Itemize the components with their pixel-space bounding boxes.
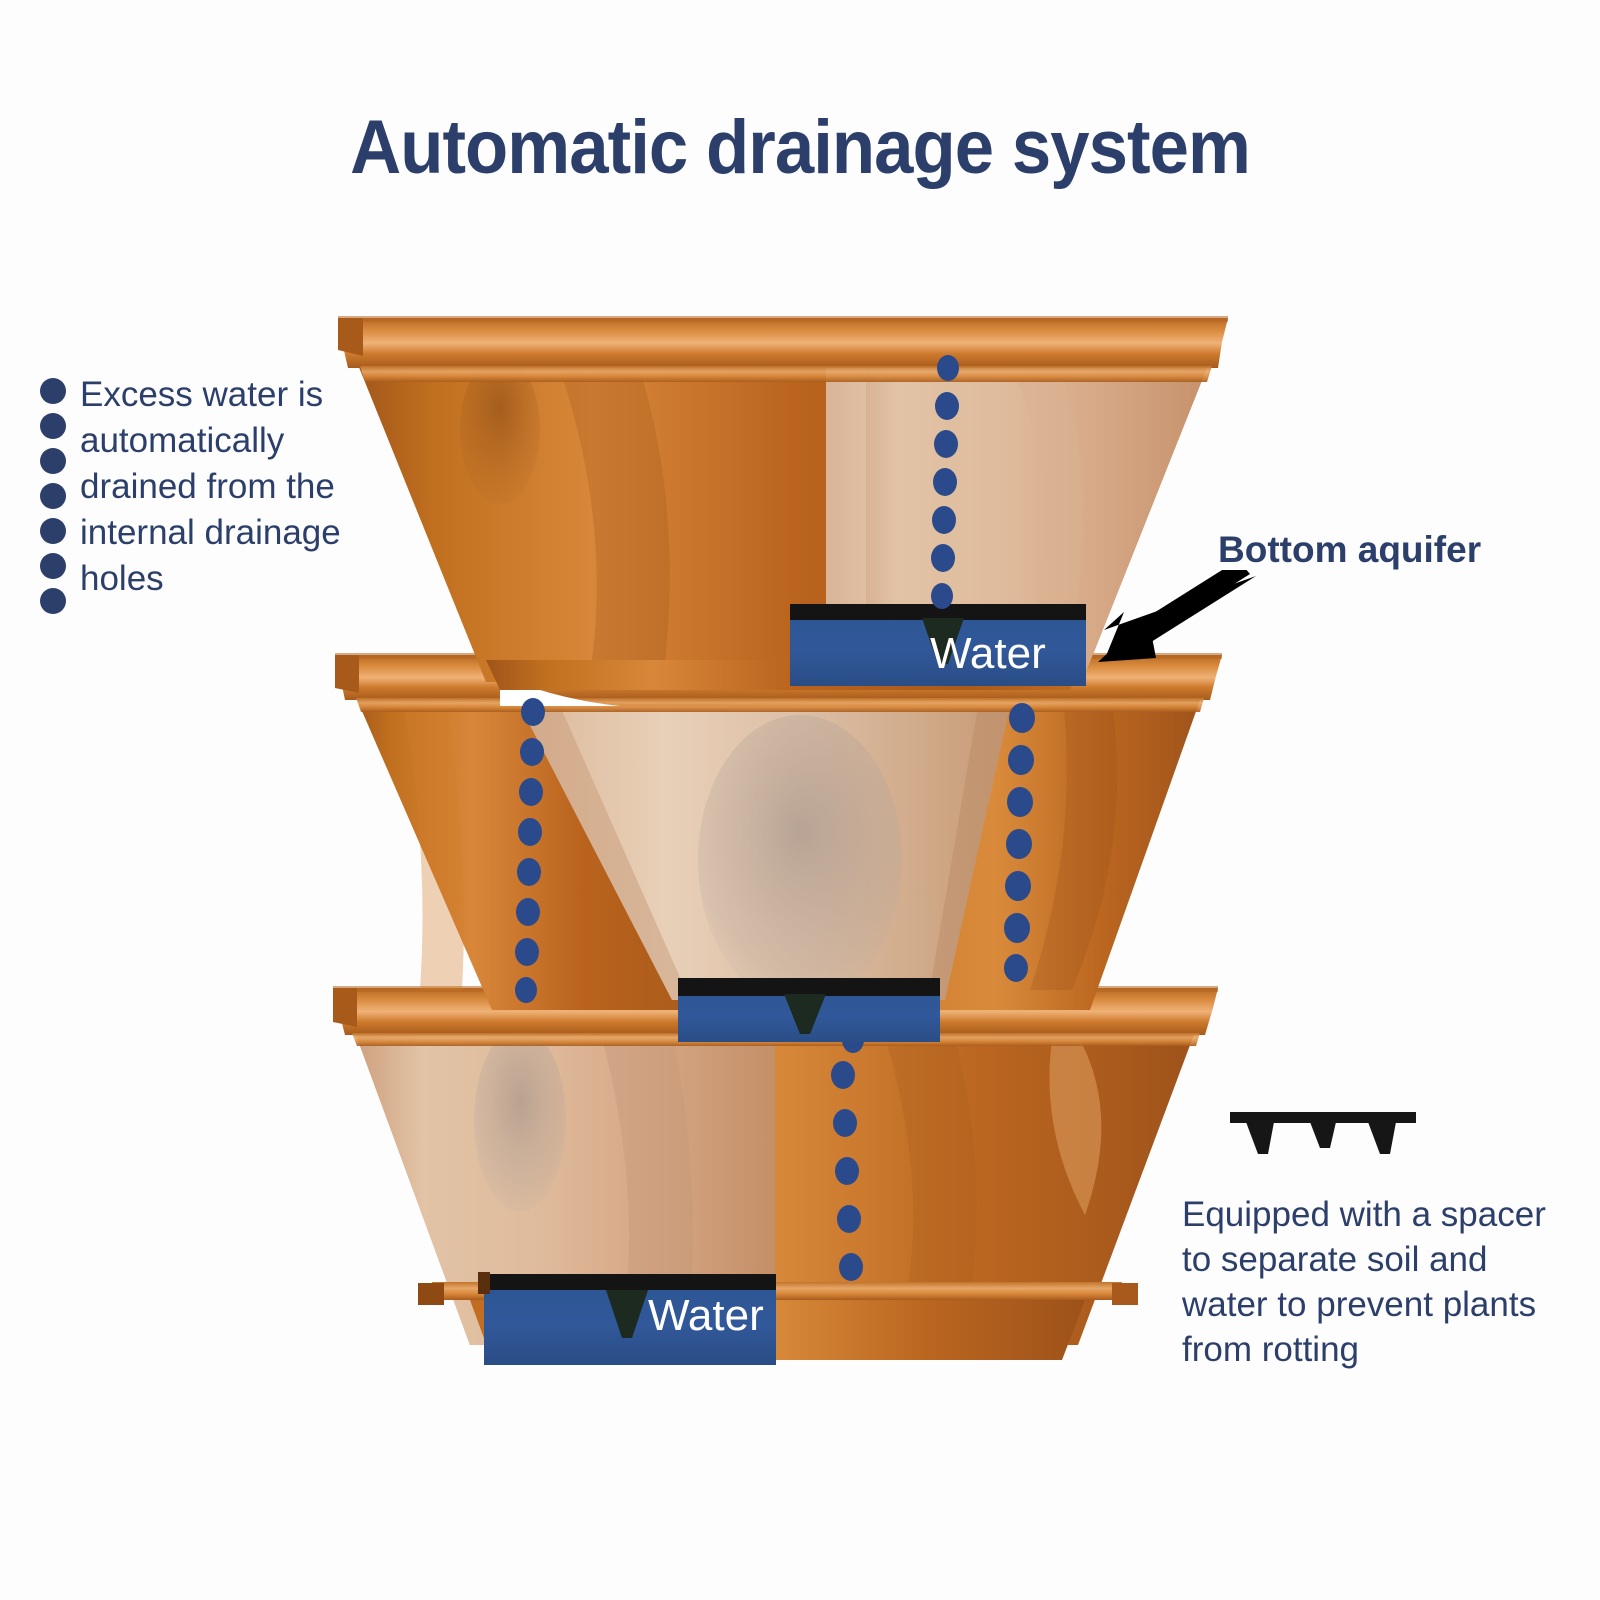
bullet-dot: [40, 483, 66, 509]
bullet-dot: [40, 518, 66, 544]
left-note: Excess water is automatically drained fr…: [40, 372, 400, 614]
bullet-dot: [40, 588, 66, 614]
left-note-text: Excess water is automatically drained fr…: [80, 372, 370, 614]
bullet-dot: [40, 378, 66, 404]
water-layer-middle: [678, 978, 940, 1042]
water-label-top: Water: [930, 629, 1046, 678]
infographic-canvas: Automatic drainage system: [0, 0, 1600, 1600]
pot-bottom: Water: [333, 986, 1218, 1365]
bottom-aquifer-label: Bottom aquifer: [1218, 529, 1481, 571]
water-label-bottom: Water: [648, 1291, 764, 1340]
spacer-note-text: Equipped with a spacer to separate soil …: [1182, 1192, 1572, 1372]
bullet-dot: [40, 448, 66, 474]
bullet-dot-column: [40, 372, 66, 614]
pot-middle: [335, 653, 1222, 1042]
spacer-bar-icon: [1228, 1108, 1418, 1158]
arrow-down-left-icon: [1060, 570, 1260, 680]
bullet-dot: [40, 413, 66, 439]
bullet-dot: [40, 553, 66, 579]
